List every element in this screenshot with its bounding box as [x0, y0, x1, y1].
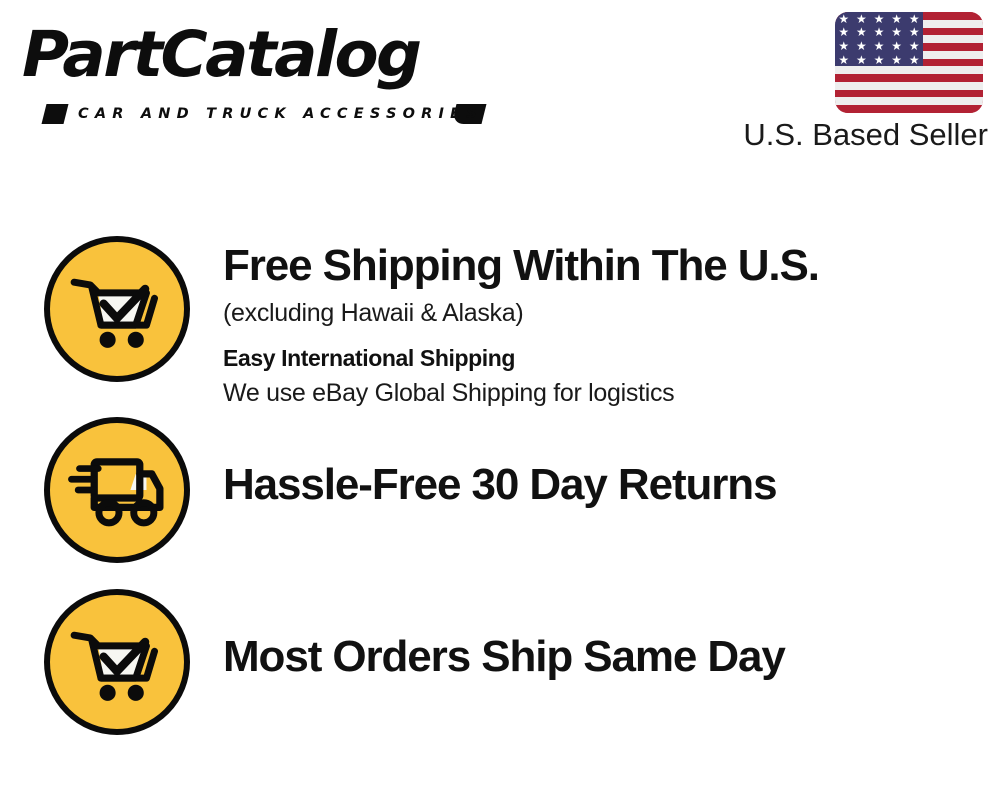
- feature-headline: Hassle-Free 30 Day Returns: [223, 459, 1000, 511]
- feature-text-block: Free Shipping Within The U.S. (excluding…: [223, 236, 1000, 410]
- flag-star: ★: [909, 26, 920, 38]
- flag-stripe: [835, 97, 983, 105]
- flag-stripe: [835, 90, 983, 98]
- flag-stripe: [835, 66, 983, 74]
- page-header: PartCatalog CAR AND TRUCK ACCESSORIES: [0, 0, 1000, 170]
- flag-star: ★: [891, 26, 902, 38]
- brand-logo: PartCatalog CAR AND TRUCK ACCESSORIES: [22, 22, 492, 112]
- feature-headline: Most Orders Ship Same Day: [223, 631, 1000, 683]
- us-based-seller-label: U.S. Based Seller: [743, 116, 988, 154]
- flag-stars: ★ ★ ★ ★ ★ ★ ★ ★ ★ ★ ★ ★ ★ ★ ★ ★ ★: [835, 12, 923, 66]
- brand-tagline: CAR AND TRUCK ACCESSORIES: [78, 106, 483, 122]
- flag-star: ★: [838, 26, 849, 38]
- flag-star: ★: [874, 13, 885, 25]
- flag-star: ★: [856, 26, 867, 38]
- flag-stripe: [835, 74, 983, 82]
- us-based-seller-badge: ★ ★ ★ ★ ★ ★ ★ ★ ★ ★ ★ ★ ★ ★ ★ ★ ★: [696, 12, 988, 157]
- feature-text-block: Most Orders Ship Same Day: [223, 589, 1000, 683]
- flag-star: ★: [891, 40, 902, 52]
- feature-row: Free Shipping Within The U.S. (excluding…: [0, 236, 1000, 396]
- brand-wordmark: PartCatalog: [22, 22, 419, 88]
- flag-star: ★: [856, 13, 867, 25]
- feature-sub-detail: We use eBay Global Shipping for logistic…: [223, 376, 1000, 410]
- flag-star: ★: [874, 40, 885, 52]
- feature-row: Hassle-Free 30 Day Returns: [0, 417, 1000, 567]
- feature-sub-note: (excluding Hawaii & Alaska): [223, 296, 1000, 330]
- flag-star: ★: [891, 13, 902, 25]
- flag-stripe: [835, 105, 983, 113]
- flag-star: ★: [909, 40, 920, 52]
- flag-stripe: [835, 82, 983, 90]
- flag-star: ★: [909, 13, 920, 25]
- feature-text-block: Hassle-Free 30 Day Returns: [223, 417, 1000, 511]
- flag-star: ★: [838, 13, 849, 25]
- flag-star: ★: [856, 40, 867, 52]
- feature-row: Most Orders Ship Same Day: [0, 589, 1000, 739]
- flag-star: ★: [856, 54, 867, 66]
- flag-star: ★: [874, 26, 885, 38]
- delivery-truck-icon: [44, 417, 190, 563]
- flag-canton: ★ ★ ★ ★ ★ ★ ★ ★ ★ ★ ★ ★ ★ ★ ★ ★ ★: [835, 12, 923, 66]
- flag-star: ★: [891, 54, 902, 66]
- flag-star: ★: [874, 54, 885, 66]
- flag-star: ★: [838, 40, 849, 52]
- shopping-cart-check-icon: [44, 589, 190, 735]
- feature-headline: Free Shipping Within The U.S.: [223, 240, 1000, 292]
- shopping-cart-check-icon: [44, 236, 190, 382]
- flag-star: ★: [838, 54, 849, 66]
- brand-slab-left: [42, 104, 69, 124]
- flag-star: ★: [909, 54, 920, 66]
- us-flag-icon: ★ ★ ★ ★ ★ ★ ★ ★ ★ ★ ★ ★ ★ ★ ★ ★ ★: [835, 12, 983, 113]
- feature-sub-heading: Easy International Shipping: [223, 342, 1000, 374]
